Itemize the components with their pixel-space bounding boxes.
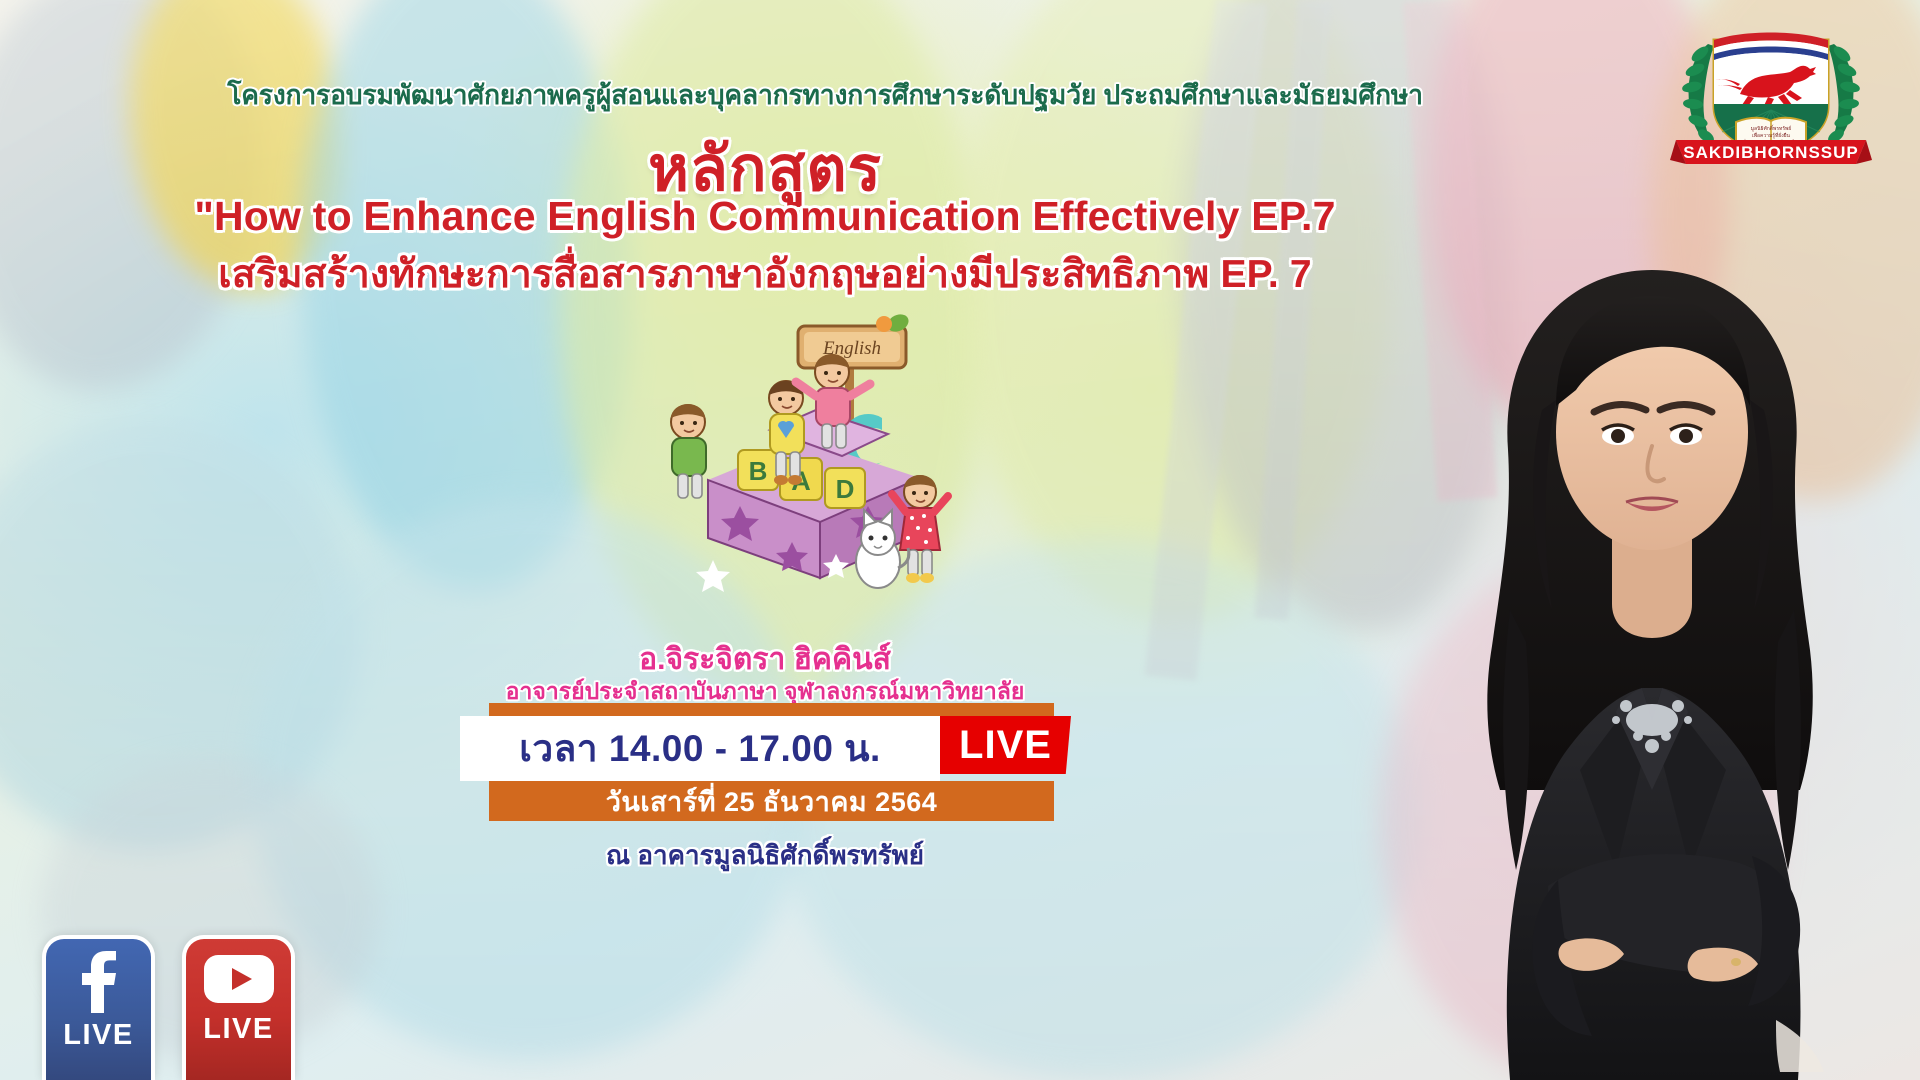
poster-canvas: มูลนิธิศักดิ์พรทรัพย์ เพื่อความรู้ที่ยั่… [0,0,1920,1080]
youtube-live-label: LIVE [203,1013,273,1046]
live-badge-label: LIVE [959,723,1052,768]
logo-book-line1: มูลนิธิศักดิ์พรทรัพย์ [1751,124,1792,132]
facebook-live-badge[interactable]: LIVE [42,935,155,1080]
logo-banner-text: SAKDIBHORNSSUP [1683,143,1859,162]
time-text: เวลา 14.00 - 17.00 น. [519,719,881,778]
facebook-icon [72,951,126,1013]
sakdibhornssup-logo: มูลนิธิศักดิ์พรทรัพย์ เพื่อความรู้ที่ยั่… [1656,10,1886,170]
english-sign-icon: English [798,326,906,368]
time-card: เวลา 14.00 - 17.00 น. [460,716,940,781]
course-title-thai: เสริมสร้างทักษะการสื่อสารภาษาอังกฤษอย่าง… [0,243,1530,305]
facebook-pill[interactable]: LIVE [42,935,155,1080]
facebook-live-label: LIVE [63,1019,133,1052]
orange-accent-bar [489,703,1054,716]
youtube-pill[interactable]: LIVE [182,935,295,1080]
youtube-live-badge[interactable]: LIVE [182,935,295,1080]
date-bar: วันเสาร์ที่ 25 ธันวาคม 2564 [489,781,1054,821]
date-text: วันเสาร์ที่ 25 ธันวาคม 2564 [606,780,938,823]
kids-english-illustration: English [620,310,990,610]
speaker-photo [1380,250,1920,1080]
svg-text:B: B [749,456,768,486]
svg-text:D: D [836,474,855,504]
logo-book-line2: เพื่อความรู้ที่ยั่งยืน [1752,132,1791,139]
live-badge: LIVE [940,716,1071,774]
youtube-icon [202,951,276,1007]
venue-text: ณ อาคารมูลนิธิศักดิ์พรทรัพย์ [0,835,1530,876]
course-title-english: "How to Enhance English Communication Ef… [0,193,1530,240]
program-header: โครงการอบรมพัฒนาศักยภาพครูผู้สอนและบุคลา… [0,74,1650,116]
